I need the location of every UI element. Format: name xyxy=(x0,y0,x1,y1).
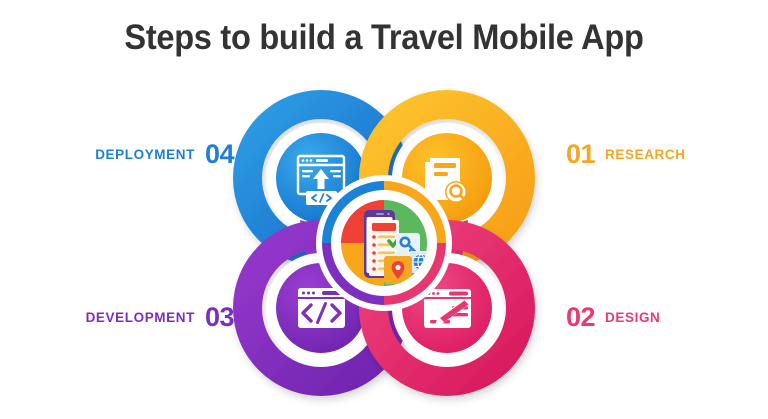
step-label-design[interactable]: 02 DESIGN xyxy=(566,304,766,331)
steps-diagram xyxy=(0,70,768,419)
step-label-research-text: RESEARCH xyxy=(605,148,686,162)
browser-code-icon xyxy=(298,288,345,328)
step-number-deployment: 04 xyxy=(205,141,234,168)
step-label-design-text: DESIGN xyxy=(605,311,660,325)
step-number-research: 01 xyxy=(566,141,595,168)
browser-pencil-icon xyxy=(424,289,471,328)
step-label-research[interactable]: 01 RESEARCH xyxy=(566,141,766,168)
page-title: Steps to build a Travel Mobile App xyxy=(27,16,741,60)
step-label-development[interactable]: DEVELOPMENT 03 xyxy=(10,304,234,331)
step-number-design: 02 xyxy=(566,304,595,331)
step-label-development-text: DEVELOPMENT xyxy=(86,311,195,325)
step-label-deployment[interactable]: DEPLOYMENT 04 xyxy=(10,141,234,168)
step-number-development: 03 xyxy=(205,304,234,331)
step-label-deployment-text: DEPLOYMENT xyxy=(95,148,195,162)
